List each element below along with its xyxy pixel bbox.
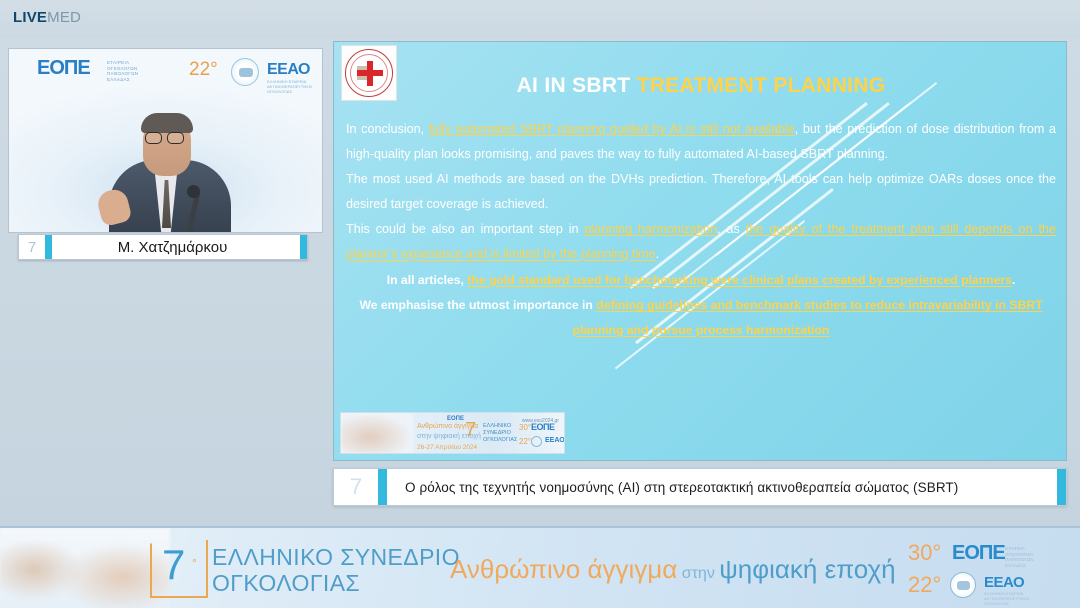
speaker-figure — [105, 104, 235, 232]
banner-badge-22: 22° — [519, 437, 531, 446]
congress-footer: 7 ° ΕΛΛΗΝΙΚΟ ΣΥΝΕΔΡΙΟΟΓΚΟΛΟΓΙΑΣ Ανθρώπιν… — [0, 526, 1080, 608]
speaker-glasses-left — [145, 132, 162, 144]
footer-slogan-small: στην — [677, 565, 719, 582]
talk-title-text: Ο ρόλος της τεχνητής νοημοσύνης (AI) στη… — [387, 480, 1057, 495]
banner-eope-mark: EOΠΕ — [447, 416, 464, 422]
slide-title: AI IN SBRT TREATMENT PLANNING — [334, 74, 1067, 98]
banner-badge-30: 30° — [519, 423, 531, 432]
slide-text-run: fully automated SBRT planning guided by … — [429, 122, 795, 136]
footer-congress-name: ΕΛΛΗΝΙΚΟ ΣΥΝΕΔΡΙΟΟΓΚΟΛΟΓΙΑΣ — [212, 544, 460, 596]
banner-congress-name: ΕΛΛΗΝΙΚΟΣΥΝΕΔΡΙΟΟΓΚΟΛΟΓΙΑΣ — [483, 423, 517, 444]
speaker-name-bar: 7 Μ. Χατζημάρκου — [18, 234, 308, 260]
backdrop-eeao-subtitle: ΕΛΛΗΝΙΚΗ ΕΤΑΙΡΕΙΑΑΚΤΙΝΟΘΕΡΑΠΕΥΤΙΚΗΣΟΓΚΟΛ… — [267, 79, 313, 94]
footer-badge-30: 30° — [908, 540, 941, 566]
slide-body-text: In conclusion, fully automated SBRT plan… — [346, 117, 1056, 343]
slide-text-run: . — [656, 247, 660, 261]
congress-7-icon-caption: 7 — [334, 469, 378, 505]
footer-badge-22: 22° — [908, 572, 941, 598]
slide-paragraph: In all articles, the gold standard used … — [346, 268, 1056, 293]
footer-slogan: Ανθρώπινο άγγιγμα στην ψηφιακή εποχή — [450, 554, 896, 585]
speaker-glasses-right — [167, 132, 184, 144]
slide-text-run: . — [1012, 273, 1015, 287]
congress-7-icon: 7 — [19, 235, 45, 259]
slide-text-run: We emphasise the utmost importance in — [359, 298, 596, 312]
footer-eeao-subtitle: ΕΛΛΗΝΙΚΗ ΕΤΑΙΡΕΙΑΑΚΤΙΝΟΘΕΡΑΠΕΥΤΙΚΗΣΟΓΚΟΛ… — [984, 591, 1030, 606]
slide-text-run: planning harmonization — [584, 222, 717, 236]
banner-url: www.eso2024.gr — [522, 418, 559, 424]
slide-title-white-part: AI IN SBRT — [517, 74, 637, 97]
footer-7-logo: 7 ° — [150, 540, 208, 598]
slide-text-run: In conclusion, — [346, 122, 429, 136]
slide-text-run: defining guidelines and benchmark studie… — [573, 298, 1043, 337]
banner-7-icon: 7 — [465, 419, 476, 442]
brand-primary-text: LIVE — [13, 9, 47, 26]
footer-photo — [0, 528, 170, 608]
backdrop-seal-icon — [231, 58, 259, 86]
app-header: LIVEMED — [0, 0, 1080, 38]
backdrop-eope-logo: ΕΟΠΕ — [37, 57, 90, 80]
accent-stripe-left — [45, 235, 52, 259]
footer-slogan-orange: Ανθρώπινο άγγιγμα — [450, 554, 677, 584]
banner-eeao-logo: ΕΕΑΟ — [545, 437, 565, 444]
footer-eeao-logo: ΕΕΑΟ — [984, 574, 1024, 591]
caption-accent-left — [378, 469, 387, 505]
footer-seal-icon — [950, 572, 976, 598]
footer-eope-subtitle: ΕΤΑΙΡΕΙΑΟΓΚΟΛΟΓΩΝΠΑΘΟΛΟΓΩΝΕΛΛΑΔΑΣ — [1005, 546, 1034, 568]
backdrop-eeao-logo: ΕΕΑΟ — [267, 61, 310, 79]
slide-title-yellow-part: TREATMENT PLANNING — [637, 74, 886, 97]
slide-text-run: In all articles, — [387, 273, 468, 287]
banner-photo — [341, 413, 413, 453]
slide-text-run: , as — [717, 222, 746, 236]
caption-accent-right — [1057, 469, 1066, 505]
slide-text-run: the gold standard used for benchmarking … — [467, 273, 1012, 287]
footer-7-number: 7 — [162, 544, 185, 586]
footer-eope-logo: ΕΟΠΕ — [952, 542, 1005, 565]
speaker-hair — [141, 113, 193, 133]
slide-paragraph: We emphasise the utmost importance in de… — [346, 293, 1056, 342]
livemed-logo: LIVEMED — [13, 9, 81, 26]
brand-secondary-text: MED — [47, 9, 81, 26]
backdrop-badge-22: 22° — [189, 59, 218, 81]
slide-congress-banner: EOΠΕ Ανθρώπινο άγγιγμα στην ψηφιακή εποχ… — [340, 412, 565, 454]
speaker-video-player[interactable]: ΕΟΠΕ ΕΤΑΙΡΕΙΑΟΓΚΟΛΟΓΩΝΠΑΘΟΛΟΓΩΝΕΛΛΑΔΑΣ 2… — [8, 48, 323, 233]
slide-paragraph: The most used AI methods are based on th… — [346, 167, 1056, 216]
backdrop-eope-subtitle: ΕΤΑΙΡΕΙΑΟΓΚΟΛΟΓΩΝΠΑΘΟΛΟΓΩΝΕΛΛΑΔΑΣ — [107, 60, 138, 82]
microphone-icon — [187, 185, 200, 198]
slide-text-run: This could be also an important step in — [346, 222, 584, 236]
footer-degree-symbol: ° — [192, 556, 197, 570]
presentation-slide[interactable]: AI IN SBRT TREATMENT PLANNING In conclus… — [333, 41, 1067, 461]
slide-text-run: The most used AI methods are based on th… — [346, 172, 1056, 211]
banner-seal-icon — [531, 436, 542, 447]
accent-stripe-right — [300, 235, 307, 259]
footer-slogan-blue: ψηφιακή εποχή — [719, 554, 895, 584]
talk-title-bar: 7 Ο ρόλος της τεχνητής νοημοσύνης (AI) σ… — [333, 468, 1067, 506]
speaker-name: Μ. Χατζημάρκου — [52, 239, 300, 256]
slide-paragraph: This could be also an important step in … — [346, 217, 1056, 266]
slide-paragraph: In conclusion, fully automated SBRT plan… — [346, 117, 1056, 166]
banner-dates: 26-27 Απριλίου 2024 — [417, 444, 477, 451]
